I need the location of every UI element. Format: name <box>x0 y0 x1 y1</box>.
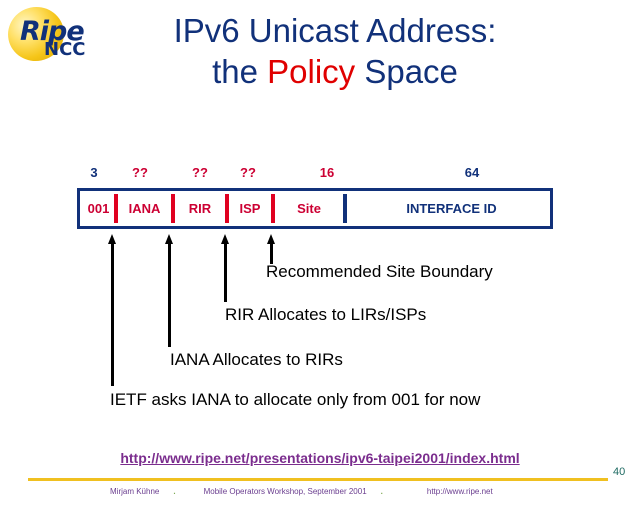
field-site: Site <box>275 191 343 226</box>
page-number: 40 <box>613 466 625 478</box>
field-001: 001 <box>83 191 114 226</box>
footer-website: http://www.ripe.net <box>397 487 493 496</box>
field-rir: RIR <box>175 191 225 226</box>
arrowshaft-iana <box>168 241 171 347</box>
divider-isp-site <box>271 194 275 223</box>
divider-001-iana <box>114 194 118 223</box>
bitlabel-prefix-3: 3 <box>90 165 97 180</box>
field-iana: IANA <box>118 191 171 226</box>
divider-site-interface-id <box>343 194 347 223</box>
divider-rir-isp <box>225 194 229 223</box>
footer-event: Mobile Operators Workshop, September 200… <box>190 487 367 496</box>
annotation-site-boundary: Recommended Site Boundary <box>266 262 493 282</box>
bitlabel-rir-unknown: ?? <box>192 165 208 180</box>
arrowshaft-rir <box>224 241 227 302</box>
footer-author: Mirjam Kühne <box>110 487 159 496</box>
arrow-rir <box>221 234 230 302</box>
bitlabel-isp-unknown: ?? <box>240 165 256 180</box>
footer-separator-2: . <box>367 487 397 496</box>
bitlabel-site-16: 16 <box>320 165 334 180</box>
annotation-iana-allocates: IANA Allocates to RIRs <box>170 350 343 370</box>
annotation-ietf-asks: IETF asks IANA to allocate only from 001… <box>110 390 480 410</box>
footer: Mirjam Kühne.Mobile Operators Workshop, … <box>110 487 580 496</box>
field-isp: ISP <box>229 191 271 226</box>
bitlabel-iana-unknown: ?? <box>132 165 148 180</box>
divider-iana-rir <box>171 194 175 223</box>
footer-rule <box>28 478 608 481</box>
arrowshaft-ietf <box>111 241 114 386</box>
ipv6-address-format-diagram: 3 ?? ?? ?? 16 64 001 IANA RIR ISP Site I… <box>0 0 640 512</box>
presentation-url-link[interactable]: http://www.ripe.net/presentations/ipv6-t… <box>0 450 640 466</box>
bitlabel-interface-64: 64 <box>465 165 479 180</box>
annotation-rir-allocates: RIR Allocates to LIRs/ISPs <box>225 305 426 325</box>
field-interface-id: INTERFACE ID <box>350 191 553 226</box>
arrow-ietf <box>108 234 117 386</box>
footer-separator-1: . <box>159 487 189 496</box>
arrowshaft-site <box>270 241 273 264</box>
arrow-site <box>267 234 276 264</box>
address-bar: 001 IANA RIR ISP Site INTERFACE ID <box>77 188 553 229</box>
arrow-iana <box>165 234 174 347</box>
